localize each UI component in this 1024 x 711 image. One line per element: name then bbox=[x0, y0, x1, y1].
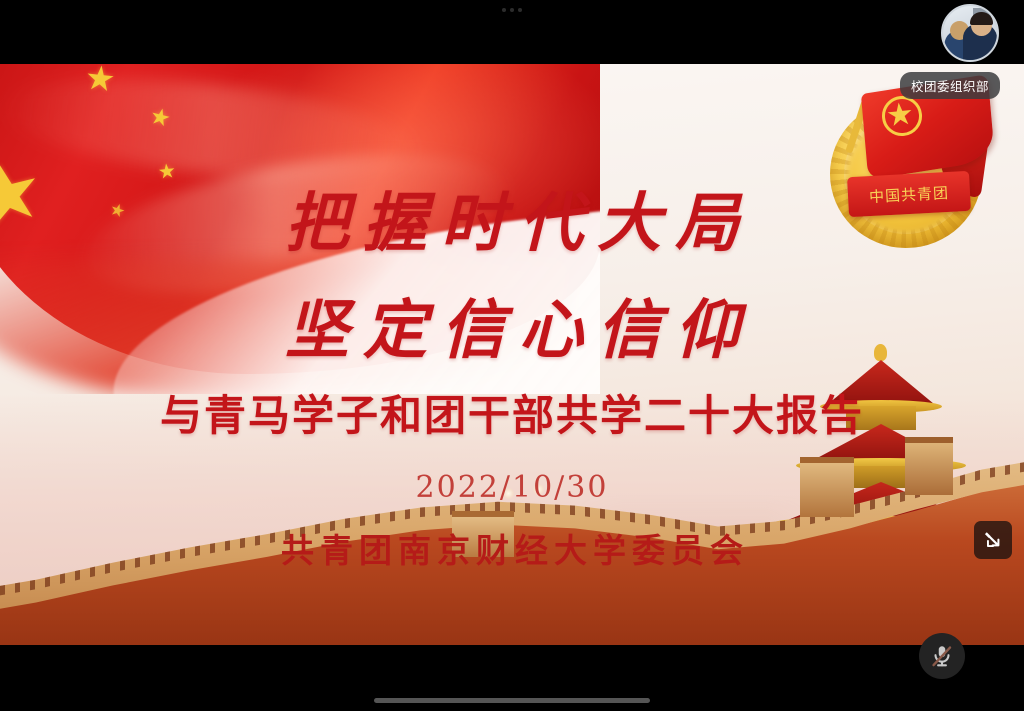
top-indicator-dots bbox=[502, 8, 522, 12]
slide-date: 2022/10/30 bbox=[0, 470, 1024, 505]
slide-organization: 共青团南京财经大学委员会 bbox=[0, 524, 1024, 572]
top-bar bbox=[0, 0, 1024, 64]
home-indicator-bar[interactable] bbox=[374, 698, 650, 703]
slide-title-line-1: 把握时代大局 bbox=[0, 172, 1024, 264]
dot bbox=[518, 8, 522, 12]
screen-share-view: 校团委组织部 ★ ★ ★ ★ ★ ★ 中国共青团 bbox=[0, 0, 1024, 711]
emblem-star-icon: ★ bbox=[884, 98, 915, 132]
dot bbox=[502, 8, 506, 12]
participant-avatar[interactable] bbox=[941, 4, 999, 62]
microphone-mute-button[interactable] bbox=[919, 633, 965, 679]
flag-star-small-1: ★ bbox=[83, 64, 117, 98]
participant-name-badge: 校团委组织部 bbox=[900, 72, 1000, 99]
expand-fullscreen-button[interactable] bbox=[974, 521, 1012, 559]
slide-title-line-2: 坚定信心信仰 bbox=[0, 279, 1024, 371]
presentation-slide[interactable]: ★ ★ ★ ★ ★ ★ 中国共青团 bbox=[0, 64, 1024, 645]
dot bbox=[510, 8, 514, 12]
slide-subtitle: 与青马学子和团干部共学二十大报告 bbox=[0, 382, 1024, 443]
diagonal-arrow-expand-icon bbox=[982, 529, 1004, 551]
mic-off-icon bbox=[929, 643, 955, 669]
